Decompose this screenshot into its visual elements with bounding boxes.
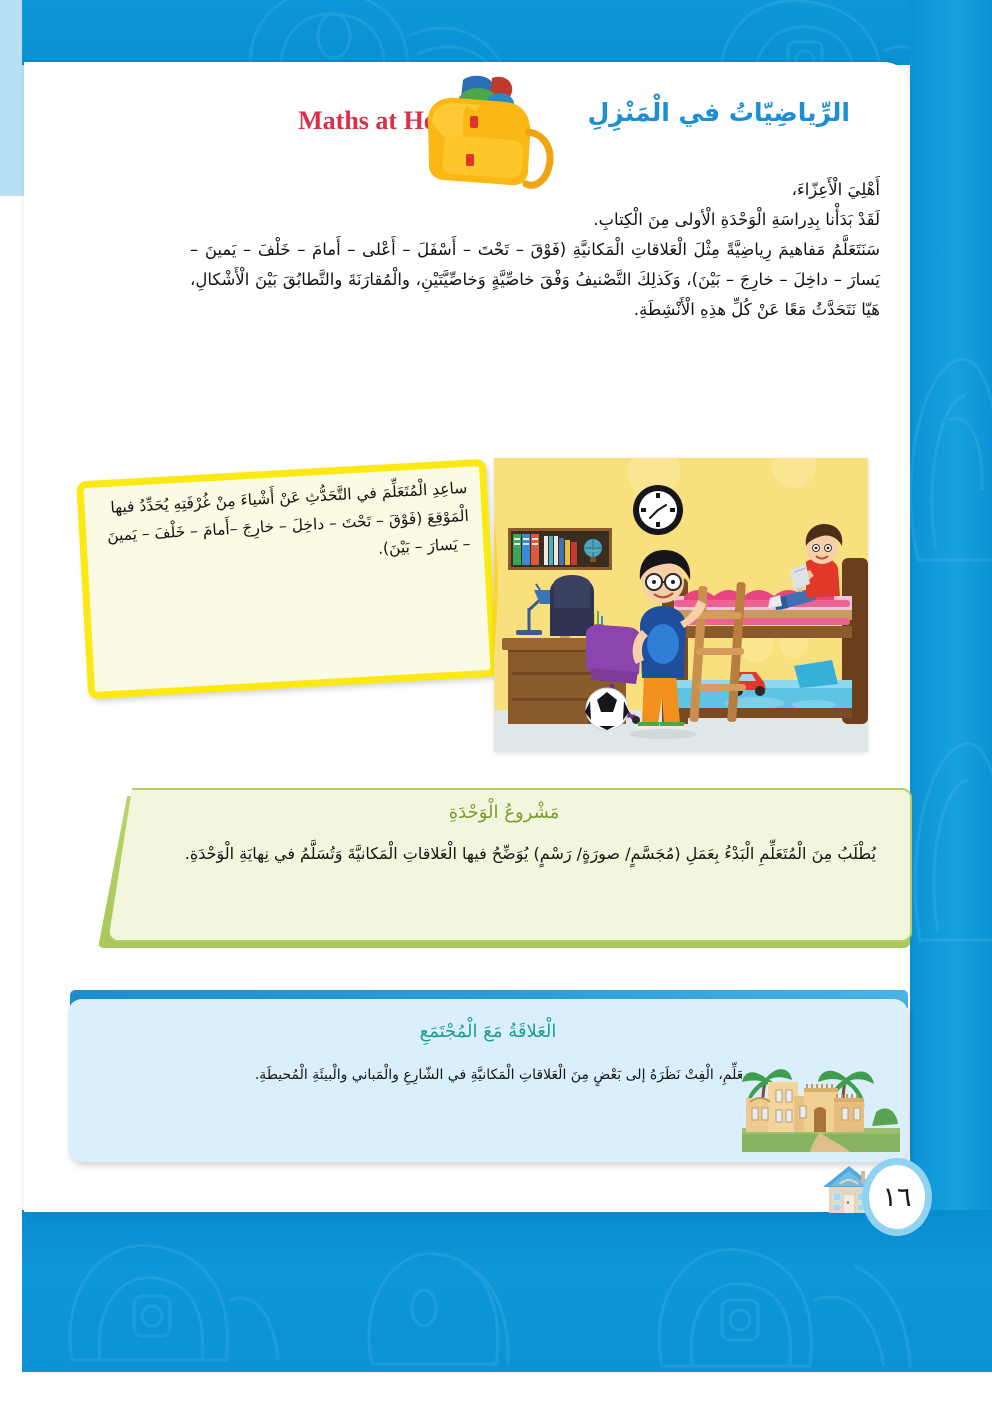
page-number-badge: ١٦: [862, 1158, 932, 1236]
backpack-watermark: [332, 1204, 532, 1374]
letter-line-greeting: أَهْلِيَ الْأَعِزّاءَ،: [190, 175, 880, 205]
page-header: Maths at Home الرِّياضِيّاتُ في الْمَنْز…: [150, 80, 850, 180]
page-number-text: ١٦: [862, 1158, 932, 1236]
top-blue-border: [22, 0, 992, 65]
sticky-note-parent-tip: ساعِدِ الْمُتَعَلِّمَ في التَّحَدُّثِ عَ…: [76, 459, 498, 700]
page-frame: Maths at Home الرِّياضِيّاتُ في الْمَنْز…: [0, 0, 992, 1403]
letter-line-concepts: سَنَتَعَلَّمُ مَفاهيمَ رِياضِيَّةً مِثْل…: [190, 235, 880, 325]
page-title-arabic: الرِّياضِيّاتُ في الْمَنْزِلِ: [588, 98, 850, 127]
village-houses-illustration: [742, 1052, 900, 1152]
project-box: مَشْروعُ الْوَحْدَةِ يُطْلَبُ مِنَ الْمُ…: [98, 788, 910, 948]
letter-line-intro: لَقَدْ بَدَأْنا بِدِراسَةِ الْوَحْدَةِ ا…: [190, 205, 880, 235]
project-box-title: مَشْروعُ الْوَحْدَةِ: [98, 802, 910, 823]
community-box-title: الْعَلاقَةُ مَعَ الْمُجْتَمَعِ: [68, 1021, 908, 1042]
backpack-icon: [408, 72, 558, 192]
left-blue-strip: [0, 0, 24, 196]
letter-body: أَهْلِيَ الْأَعِزّاءَ، لَقَدْ بَدَأْنا ب…: [190, 175, 880, 325]
bottom-blue-border: [22, 1210, 992, 1372]
project-box-text: يُطْلَبُ مِنَ الْمُتَعَلِّمِ الْبَدْءُ ب…: [136, 838, 876, 869]
backpack-watermark: [42, 1200, 282, 1370]
bedroom-illustration: [494, 458, 868, 752]
